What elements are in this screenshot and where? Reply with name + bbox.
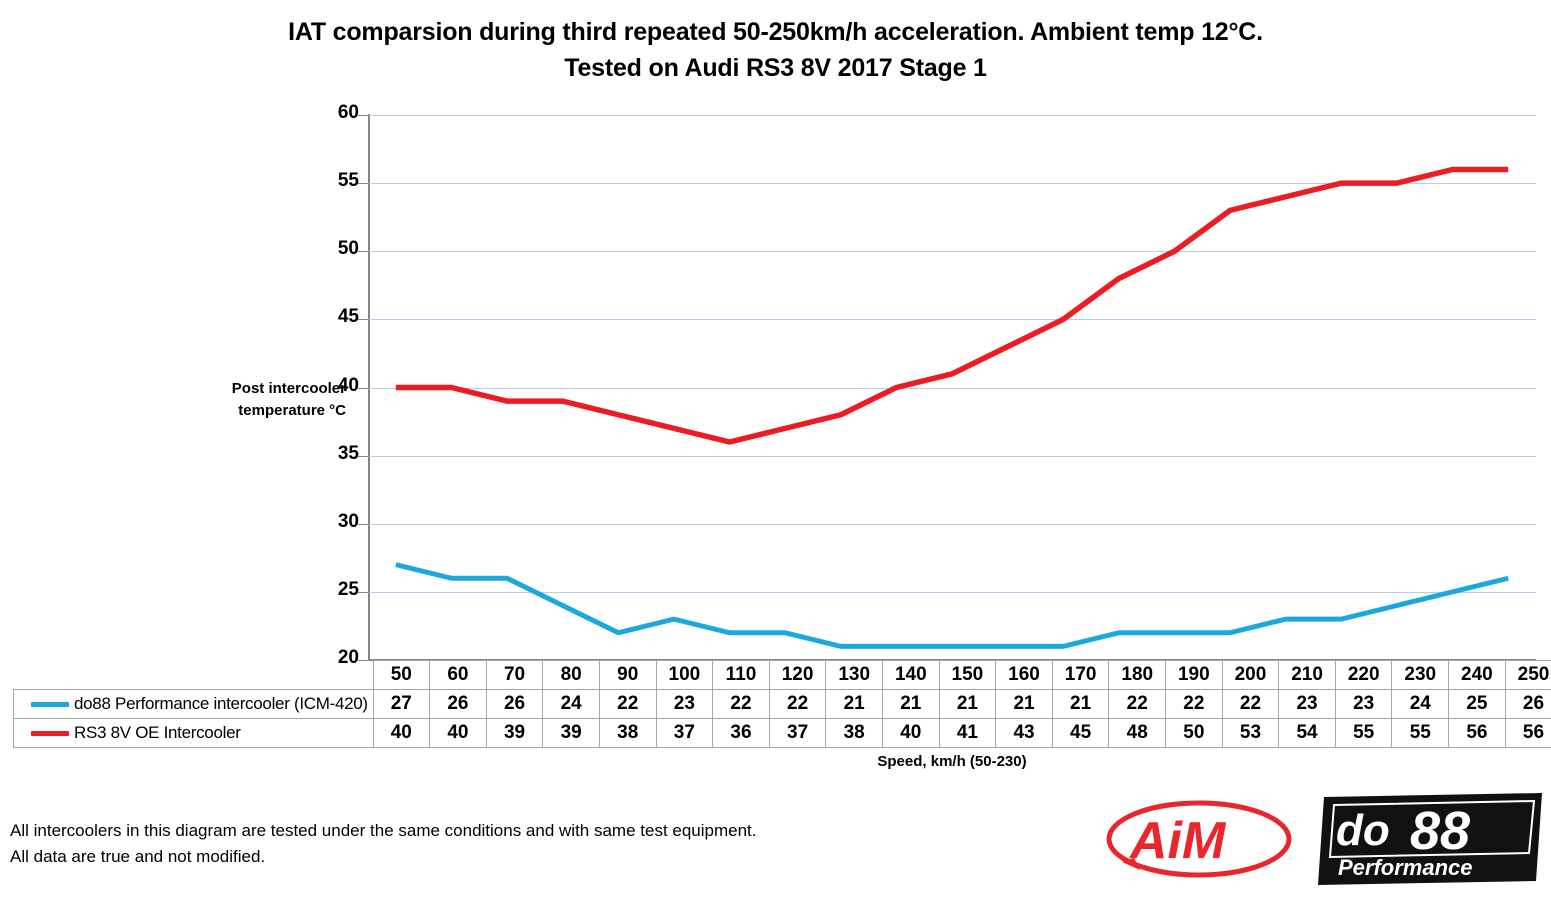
x-tick-label-110: 110 xyxy=(713,661,770,690)
y-tick-label-55: 55 xyxy=(299,170,359,192)
x-tick-label-190: 190 xyxy=(1166,661,1223,690)
footer-note: All intercoolers in this diagram are tes… xyxy=(10,818,970,871)
data-cell-240: 25 xyxy=(1449,690,1506,719)
page-title: IAT comparsion during third repeated 50-… xyxy=(0,14,1551,87)
y-tick-label-45: 45 xyxy=(299,306,359,328)
y-tick-40 xyxy=(358,388,369,389)
footer-line-2: All data are true and not modified. xyxy=(10,844,970,870)
data-cell-250: 56 xyxy=(1505,719,1551,748)
data-cell-200: 22 xyxy=(1222,690,1279,719)
y-tick-50 xyxy=(358,251,369,252)
legend-entry: do88 Performance intercooler (ICM-420) xyxy=(14,690,374,719)
data-cell-100: 23 xyxy=(656,690,713,719)
x-tick-label-200: 200 xyxy=(1222,661,1279,690)
data-cell-150: 21 xyxy=(939,690,996,719)
data-cell-120: 37 xyxy=(769,719,826,748)
data-cell-250: 26 xyxy=(1505,690,1551,719)
y-tick-55 xyxy=(358,183,369,184)
y-tick-label-25: 25 xyxy=(299,579,359,601)
data-cell-110: 36 xyxy=(713,719,770,748)
data-cell-130: 21 xyxy=(826,690,883,719)
data-table: 5060708090100110120130140150160170180190… xyxy=(13,660,1551,748)
y-tick-60 xyxy=(358,115,369,116)
svg-text:do: do xyxy=(1336,806,1390,855)
y-tick-35 xyxy=(358,456,369,457)
svg-text:Performance: Performance xyxy=(1338,855,1473,880)
data-cell-170: 21 xyxy=(1052,690,1109,719)
x-tick-label-160: 160 xyxy=(996,661,1053,690)
x-tick-label-90: 90 xyxy=(599,661,656,690)
x-tick-label-140: 140 xyxy=(882,661,939,690)
legend-swatch-do88 xyxy=(31,702,69,707)
y-tick-label-40: 40 xyxy=(299,375,359,397)
x-tick-label-240: 240 xyxy=(1449,661,1506,690)
data-cell-230: 55 xyxy=(1392,719,1449,748)
data-cell-190: 50 xyxy=(1166,719,1223,748)
data-cell-200: 53 xyxy=(1222,719,1279,748)
data-cell-60: 40 xyxy=(430,719,487,748)
data-cell-220: 55 xyxy=(1335,719,1392,748)
x-tick-label-70: 70 xyxy=(486,661,543,690)
data-cell-210: 54 xyxy=(1279,719,1336,748)
x-tick-label-150: 150 xyxy=(939,661,996,690)
y-tick-label-50: 50 xyxy=(299,238,359,260)
svg-text:AiM: AiM xyxy=(1128,812,1227,870)
data-cell-50: 40 xyxy=(373,719,430,748)
data-cell-110: 22 xyxy=(713,690,770,719)
svg-text:88: 88 xyxy=(1410,801,1470,861)
y-tick-label-60: 60 xyxy=(299,102,359,124)
data-cell-130: 38 xyxy=(826,719,883,748)
legend-label-do88: do88 Performance intercooler (ICM-420) xyxy=(74,694,368,714)
x-tick-label-180: 180 xyxy=(1109,661,1166,690)
plot-area xyxy=(368,115,1536,660)
data-cell-240: 56 xyxy=(1449,719,1506,748)
y-axis-labels: 605550454035302520 xyxy=(270,0,360,900)
data-cell-150: 41 xyxy=(939,719,996,748)
series-line-do88 xyxy=(396,565,1508,647)
x-tick-label-130: 130 xyxy=(826,661,883,690)
data-cell-180: 22 xyxy=(1109,690,1166,719)
x-tick-label-60: 60 xyxy=(430,661,487,690)
x-tick-label-210: 210 xyxy=(1279,661,1336,690)
table-row: RS3 8V OE Intercooler4040393938373637384… xyxy=(14,719,1551,748)
data-cell-160: 43 xyxy=(996,719,1053,748)
data-cell-160: 21 xyxy=(996,690,1053,719)
y-tick-label-30: 30 xyxy=(299,511,359,533)
do88-logo: do 88 Performance xyxy=(1318,793,1542,885)
x-tick-label-220: 220 xyxy=(1335,661,1392,690)
table-header-row: 5060708090100110120130140150160170180190… xyxy=(14,661,1551,690)
data-cell-50: 27 xyxy=(373,690,430,719)
x-tick-label-80: 80 xyxy=(543,661,600,690)
data-cell-190: 22 xyxy=(1166,690,1223,719)
data-cell-230: 24 xyxy=(1392,690,1449,719)
title-line-1: IAT comparsion during third repeated 50-… xyxy=(0,14,1551,50)
x-axis-title: Speed, km/h (50-230) xyxy=(368,753,1536,770)
data-cell-70: 39 xyxy=(486,719,543,748)
y-tick-30 xyxy=(358,524,369,525)
y-tick-45 xyxy=(358,319,369,320)
x-tick-label-50: 50 xyxy=(373,661,430,690)
data-cell-60: 26 xyxy=(430,690,487,719)
y-tick-20 xyxy=(358,660,369,661)
data-cell-210: 23 xyxy=(1279,690,1336,719)
data-cell-100: 37 xyxy=(656,719,713,748)
table-row: do88 Performance intercooler (ICM-420)27… xyxy=(14,690,1551,719)
data-cell-170: 45 xyxy=(1052,719,1109,748)
data-cell-80: 39 xyxy=(543,719,600,748)
data-cell-140: 21 xyxy=(882,690,939,719)
data-cell-90: 38 xyxy=(599,719,656,748)
y-tick-label-35: 35 xyxy=(299,443,359,465)
data-cell-70: 26 xyxy=(486,690,543,719)
x-tick-label-230: 230 xyxy=(1392,661,1449,690)
legend-entry: RS3 8V OE Intercooler xyxy=(14,719,374,748)
series-line-oe xyxy=(396,170,1508,443)
data-cell-180: 48 xyxy=(1109,719,1166,748)
data-cell-140: 40 xyxy=(882,719,939,748)
data-cell-90: 22 xyxy=(599,690,656,719)
title-line-2: Tested on Audi RS3 8V 2017 Stage 1 xyxy=(0,50,1551,86)
x-tick-label-250: 250 xyxy=(1505,661,1551,690)
data-cell-220: 23 xyxy=(1335,690,1392,719)
x-tick-label-170: 170 xyxy=(1052,661,1109,690)
data-cell-120: 22 xyxy=(769,690,826,719)
footer-line-1: All intercoolers in this diagram are tes… xyxy=(10,818,970,844)
y-tick-25 xyxy=(358,592,369,593)
x-tick-label-100: 100 xyxy=(656,661,713,690)
x-tick-label-120: 120 xyxy=(769,661,826,690)
aim-logo: AiM xyxy=(1104,796,1294,882)
table-corner-cell xyxy=(14,661,374,690)
legend-label-oe: RS3 8V OE Intercooler xyxy=(74,723,241,743)
series-lines xyxy=(368,115,1536,660)
legend-swatch-oe xyxy=(31,731,69,736)
data-cell-80: 24 xyxy=(543,690,600,719)
